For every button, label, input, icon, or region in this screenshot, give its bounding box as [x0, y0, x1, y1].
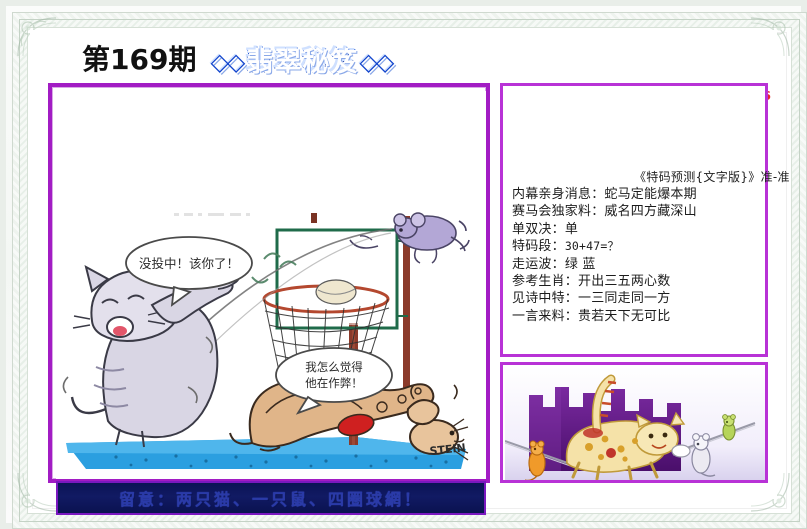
prediction-row: 走运波：绿 蓝	[512, 256, 767, 273]
issue-number: 第169期	[82, 38, 196, 78]
prediction-value: 蛇马定能爆本期	[604, 187, 696, 202]
green-mouse	[723, 415, 736, 440]
mascot-panel	[500, 362, 768, 483]
title-text: 翡翠秘笈	[243, 46, 359, 77]
prediction-value: 绿 蓝	[565, 257, 596, 272]
prediction-value: 30+47=？	[565, 239, 619, 253]
prediction-key: 走运波：	[512, 257, 565, 272]
prediction-row: 一言来料：贵若天下无可比	[512, 308, 767, 325]
page-header: 第169期 ◇◇翡翠秘笈◇◇	[82, 38, 392, 78]
prediction-row: 特码段：30+47=？	[512, 238, 767, 255]
prediction-value: 开出三五两心数	[578, 274, 670, 289]
notice-banner-text: 留意：两只猫、一只鼠、四圈球網！	[119, 486, 423, 510]
prediction-key: 参考生肖：	[512, 274, 578, 289]
cartoon-svg: 没投中！该你了！ 我怎么觉得 他在作弊！ STEIN	[56, 91, 486, 479]
prediction-key: 一言来料：	[512, 309, 578, 324]
prediction-list: 内幕亲身消息：蛇马定能爆本期 赛马会独家料：威名四方藏深山 单双决：单 特码段：…	[512, 186, 767, 325]
prediction-value: 一三同走同一方	[578, 291, 670, 306]
prediction-key: 特码段：	[512, 239, 565, 254]
prediction-value: 威名四方藏深山	[604, 204, 696, 219]
castle-cat-illustration	[505, 367, 765, 480]
bubble-one-text: 没投中！该你了！	[139, 256, 239, 271]
cartoon-illustration: 没投中！该你了！ 我怎么觉得 他在作弊！ STEIN	[56, 91, 486, 479]
prediction-row: 参考生肖：开出三五两心数	[512, 273, 767, 290]
page-root: 第169期 ◇◇翡翠秘笈◇◇ 上期开奖结果：31-07-40-15-09-25特…	[0, 0, 807, 529]
page-title: ◇◇翡翠秘笈◇◇	[210, 39, 392, 78]
prediction-row: 赛马会独家料：威名四方藏深山	[512, 203, 767, 220]
prediction-key: 内幕亲身消息：	[512, 187, 604, 202]
prediction-value: 单	[565, 222, 578, 237]
cartoon-panel: 没投中！该你了！ 我怎么觉得 他在作弊！ STEIN 留意：两只猫、一只鼠、四圈…	[48, 83, 490, 483]
title-diamonds-left: ◇◇	[210, 48, 243, 76]
content-area: 第169期 ◇◇翡翠秘笈◇◇ 上期开奖结果：31-07-40-15-09-25特…	[30, 30, 777, 499]
prediction-row: 单双决：单	[512, 221, 767, 238]
castle-cat-svg	[505, 367, 765, 480]
title-diamonds-right: ◇◇	[359, 48, 392, 76]
prediction-heading: 《特码预测{文字版}》准-准	[634, 168, 790, 185]
bubble-two-line1: 我怎么觉得	[305, 360, 363, 374]
prediction-row: 内幕亲身消息：蛇马定能爆本期	[512, 186, 767, 203]
prediction-key: 见诗中特：	[512, 291, 578, 306]
notice-banner: 留意：两只猫、一只鼠、四圈球網！	[56, 481, 486, 515]
prediction-value: 贵若天下无可比	[578, 309, 670, 324]
prediction-row: 见诗中特：一三同走同一方	[512, 290, 767, 307]
bubble-two-line2: 他在作弊！	[305, 376, 363, 390]
faint-scribble	[174, 213, 250, 216]
prediction-key: 赛马会独家料：	[512, 204, 604, 219]
prediction-key: 单双决：	[512, 222, 565, 237]
